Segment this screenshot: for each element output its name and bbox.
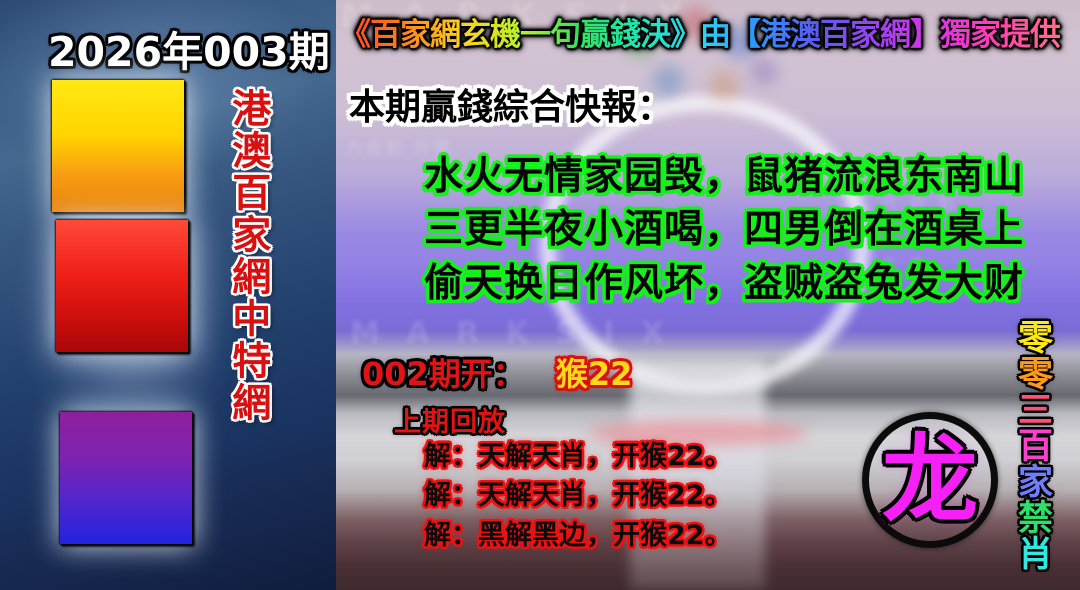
zodiac-badge: 龙: [862, 412, 998, 548]
explain-block: 解：天解天肖，开猴22。 解：天解天肖，开猴22。 解：黑解黑边，开猴22。: [424, 437, 732, 555]
vertical-brand-text: 港澳百家網中特網: [228, 88, 268, 424]
header-banner: 《百家網玄機一句贏錢決》由【港澳百家網】獨家提供: [340, 9, 1060, 54]
result-value: 猴22: [556, 355, 633, 393]
right-vertical-column: 零零三百家禁肖: [1018, 322, 1053, 574]
right-column-char-7: 肖: [1018, 538, 1053, 573]
poem-line-3: 偷天换日作风坏，盗贼盗兔发大财: [424, 257, 1024, 310]
zodiac-char: 龙: [862, 412, 998, 548]
brand-char-money: 錢: [56, 220, 188, 352]
result-label: 002期开：: [362, 355, 525, 393]
right-column-char-5: 家: [1018, 466, 1053, 501]
right-column-char-2: 零: [1018, 358, 1053, 393]
right-column-char-1: 零: [1018, 322, 1053, 357]
main-heading: 本期贏錢綜合快報：: [349, 78, 673, 130]
right-column-char-6: 禁: [1018, 502, 1053, 537]
explain-line-3: 解：黑解黑边，开猴22。: [424, 516, 732, 555]
explain-line-1: 解：天解天肖，开猴22。: [424, 437, 732, 476]
poster-root: M A R K S I X M A R K S I X 六 合 彩 六 合 六合…: [0, 0, 1080, 590]
brand-char-trick: 訣: [60, 412, 192, 544]
result-row: 002期开： 猴22: [362, 349, 632, 395]
background-ghost-text-2: M A R K S I X: [350, 316, 672, 351]
replay-title: 上期回放: [394, 400, 506, 439]
poem-line-1: 水火无情家园毁，鼠猪流浪东南山: [424, 150, 1024, 203]
right-column-char-4: 百: [1018, 430, 1053, 465]
explain-line-2: 解：天解天肖，开猴22。: [424, 476, 732, 515]
poem-block: 水火无情家园毁，鼠猪流浪东南山 三更半夜小酒喝，四男倒在酒桌上 偷天换日作风坏，…: [424, 150, 1024, 310]
poem-line-2: 三更半夜小酒喝，四男倒在酒桌上: [424, 203, 1024, 256]
brand-char-win: 贏: [52, 80, 184, 212]
right-column-char-3: 三: [1018, 394, 1053, 429]
